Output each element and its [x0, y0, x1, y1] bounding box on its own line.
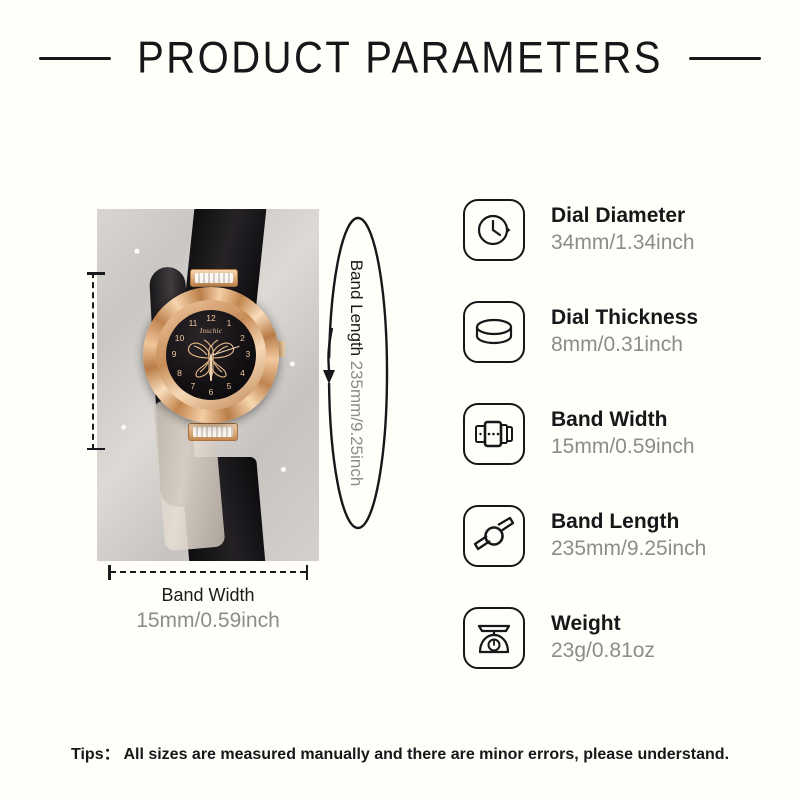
rhinestones-bottom	[193, 427, 233, 437]
dial-diameter-dimension-line	[92, 272, 94, 450]
spec-label-band-length: Band Length	[551, 510, 706, 535]
dial-numeral: 6	[204, 387, 218, 397]
band-length-annotation: Band Length 235mm/9.25inch	[318, 208, 394, 538]
dial-diameter-annotation: Dial Diameter 34mm/1.34inch	[44, 272, 100, 450]
footer-tips: Tips： All sizes are measured manually an…	[0, 740, 800, 764]
buckle-icon	[463, 403, 525, 465]
watch-dial-icon	[463, 199, 525, 261]
spec-value-weight: 23g/0.81oz	[551, 639, 655, 664]
watch-bezel: Inschic 12 1 2 3 4 5 6 7 8 9 10 11	[156, 300, 266, 410]
spec-row-band-width: Band Width 15mm/0.59inch	[463, 400, 763, 468]
page-title: PRODUCT PARAMETERS	[137, 33, 663, 83]
band-length-annotation-label: Band Length	[347, 260, 366, 356]
disc-thickness-icon	[463, 301, 525, 363]
dimension-cap-top	[87, 272, 105, 275]
spec-label-weight: Weight	[551, 612, 655, 637]
band-width-dimension-line	[104, 565, 312, 579]
spec-text-dial-thickness: Dial Thickness 8mm/0.31inch	[551, 306, 698, 358]
band-width-annotation-value: 15mm/0.59inch	[104, 609, 312, 633]
rhinestones-top	[195, 273, 233, 283]
band-width-annotation-label: Band Width	[104, 585, 312, 606]
dial-numeral: 9	[167, 349, 181, 359]
page-header: PRODUCT PARAMETERS	[0, 30, 800, 86]
band-length-annotation-text: Band Length 235mm/9.25inch	[346, 260, 366, 487]
dial-numeral: 5	[222, 381, 236, 391]
product-parameters-page: PRODUCT PARAMETERS Inschic 12 1	[0, 0, 800, 800]
dimension-cap-right	[306, 565, 309, 580]
specification-list: Dial Diameter 34mm/1.34inch Dial Thickne…	[463, 196, 763, 672]
product-photo: Inschic 12 1 2 3 4 5 6 7 8 9 10 11	[97, 209, 319, 561]
dial-numeral: 1	[222, 318, 236, 328]
spec-label-dial-thickness: Dial Thickness	[551, 306, 698, 331]
spec-row-dial-thickness: Dial Thickness 8mm/0.31inch	[463, 298, 763, 366]
dial-numeral: 7	[186, 381, 200, 391]
watch-straps-icon	[463, 505, 525, 567]
product-photo-image: Inschic 12 1 2 3 4 5 6 7 8 9 10 11	[97, 209, 319, 561]
dial-numeral: 3	[241, 349, 255, 359]
spec-text-weight: Weight 23g/0.81oz	[551, 612, 655, 664]
kitchen-scale-icon	[463, 607, 525, 669]
watch-dial: Inschic 12 1 2 3 4 5 6 7 8 9 10 11	[166, 310, 256, 400]
dial-numeral: 11	[186, 318, 200, 328]
dial-numeral: 12	[204, 313, 218, 323]
spec-text-band-length: Band Length 235mm/9.25inch	[551, 510, 706, 562]
spec-value-band-length: 235mm/9.25inch	[551, 537, 706, 562]
spec-label-band-width: Band Width	[551, 408, 695, 433]
spec-row-band-length: Band Length 235mm/9.25inch	[463, 502, 763, 570]
watch-lug-top	[190, 269, 238, 287]
spec-value-dial-thickness: 8mm/0.31inch	[551, 333, 698, 358]
spec-value-dial-diameter: 34mm/1.34inch	[551, 231, 695, 256]
watch-case: Inschic 12 1 2 3 4 5 6 7 8 9 10 11	[143, 287, 279, 423]
watch-lug-bottom	[188, 423, 238, 441]
spec-text-band-width: Band Width 15mm/0.59inch	[551, 408, 695, 460]
watch-hour-hand	[210, 355, 212, 381]
dimension-cap-bottom	[87, 448, 105, 451]
header-rule-right	[689, 57, 761, 60]
spec-text-dial-diameter: Dial Diameter 34mm/1.34inch	[551, 204, 695, 256]
dimension-dashes	[110, 571, 306, 573]
spec-value-band-width: 15mm/0.59inch	[551, 435, 695, 460]
band-length-annotation-value: 235mm/9.25inch	[347, 361, 366, 487]
spec-row-dial-diameter: Dial Diameter 34mm/1.34inch	[463, 196, 763, 264]
header-rule-left	[39, 57, 111, 60]
spec-label-dial-diameter: Dial Diameter	[551, 204, 695, 229]
spec-row-weight: Weight 23g/0.81oz	[463, 604, 763, 672]
band-width-annotation: Band Width 15mm/0.59inch	[104, 565, 312, 633]
